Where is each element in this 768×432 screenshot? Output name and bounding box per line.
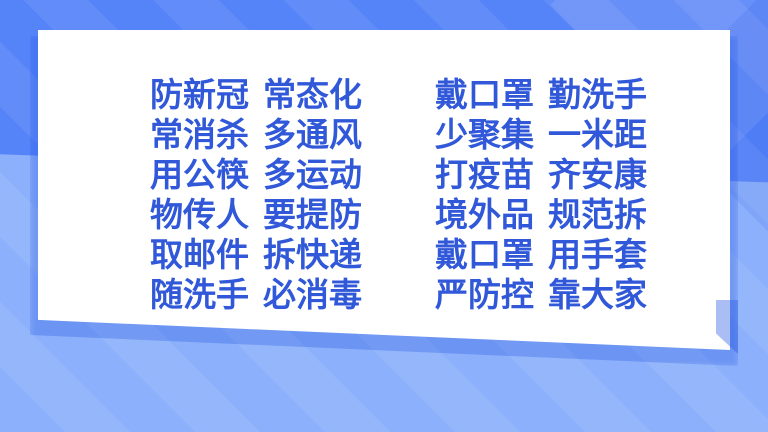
slogan-phrase: 戴口罩 (435, 78, 534, 111)
slogan-column-right: 少聚集 一米距 (386, 118, 725, 151)
slogan-column-left: 用公筷 多运动 (43, 158, 386, 191)
slogan-card: 防新冠 常态化 戴口罩 勤洗手 常消杀 多通风 少聚集 一米距 (38, 30, 730, 350)
slogan-line: 取邮件 拆快递 戴口罩 用手套 (38, 238, 730, 278)
slogan-phrase: 少聚集 (435, 118, 534, 151)
slogan-column-left: 取邮件 拆快递 (43, 238, 386, 271)
slogan-phrase: 要提防 (263, 198, 362, 231)
slogan-phrase: 随洗手 (150, 278, 249, 311)
slogan-phrase: 常态化 (263, 78, 362, 111)
poster-stage: 防新冠 常态化 戴口罩 勤洗手 常消杀 多通风 少聚集 一米距 (0, 0, 768, 432)
slogan-line: 常消杀 多通风 少聚集 一米距 (38, 118, 730, 158)
slogan-list: 防新冠 常态化 戴口罩 勤洗手 常消杀 多通风 少聚集 一米距 (38, 30, 730, 318)
slogan-phrase: 多通风 (263, 118, 362, 151)
slogan-phrase: 齐安康 (548, 158, 647, 191)
slogan-column-right: 打疫苗 齐安康 (386, 158, 725, 191)
slogan-phrase: 靠大家 (548, 278, 647, 311)
slogan-column-left: 防新冠 常态化 (43, 78, 386, 111)
slogan-phrase: 用公筷 (150, 158, 249, 191)
slogan-column-right: 戴口罩 用手套 (386, 238, 725, 271)
slogan-column-right: 境外品 规范拆 (386, 198, 725, 231)
slogan-column-right: 严防控 靠大家 (386, 278, 725, 311)
slogan-phrase: 物传人 (150, 198, 249, 231)
slogan-line: 防新冠 常态化 戴口罩 勤洗手 (38, 78, 730, 118)
slogan-phrase: 戴口罩 (435, 238, 534, 271)
slogan-phrase: 打疫苗 (435, 158, 534, 191)
slogan-phrase: 严防控 (435, 278, 534, 311)
slogan-line: 用公筷 多运动 打疫苗 齐安康 (38, 158, 730, 198)
slogan-phrase: 用手套 (548, 238, 647, 271)
slogan-phrase: 常消杀 (150, 118, 249, 151)
slogan-column-left: 常消杀 多通风 (43, 118, 386, 151)
slogan-phrase: 规范拆 (548, 198, 647, 231)
slogan-phrase: 取邮件 (150, 238, 249, 271)
slogan-column-right: 戴口罩 勤洗手 (386, 78, 725, 111)
slogan-phrase: 勤洗手 (548, 78, 647, 111)
slogan-phrase: 防新冠 (150, 78, 249, 111)
slogan-line: 物传人 要提防 境外品 规范拆 (38, 198, 730, 238)
slogan-column-left: 物传人 要提防 (43, 198, 386, 231)
slogan-column-left: 随洗手 必消毒 (43, 278, 386, 311)
slogan-line: 随洗手 必消毒 严防控 靠大家 (38, 278, 730, 318)
slogan-phrase: 必消毒 (263, 278, 362, 311)
slogan-phrase: 多运动 (263, 158, 362, 191)
slogan-phrase: 境外品 (435, 198, 534, 231)
slogan-phrase: 一米距 (548, 118, 647, 151)
slogan-phrase: 拆快递 (263, 238, 362, 271)
